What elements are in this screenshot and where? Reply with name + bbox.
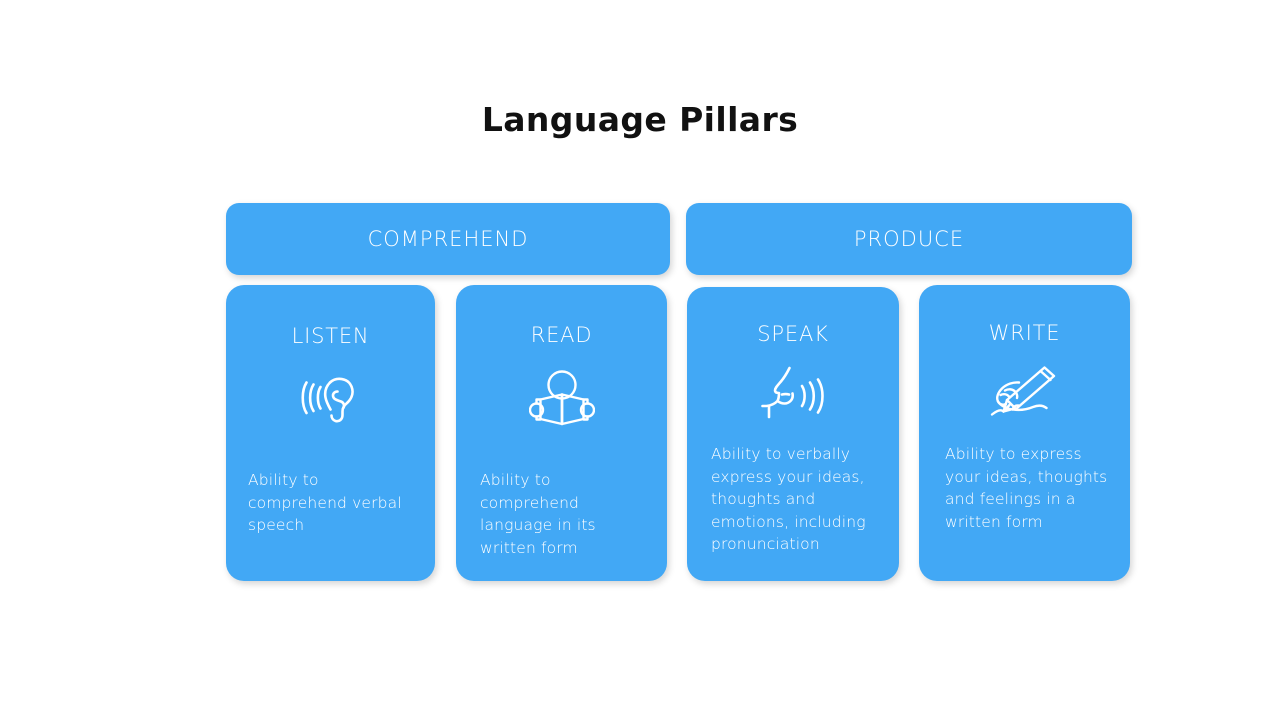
ear-listening-icon <box>226 367 435 429</box>
speaking-head-icon <box>687 365 899 425</box>
pillar-card-title: READ <box>456 323 667 347</box>
pillar-card-description: Ability to verbally express your ideas, … <box>711 443 887 556</box>
pillar-card-description: Ability to express your ideas, thoughts … <box>945 443 1118 533</box>
pillar-card-title: WRITE <box>919 321 1130 345</box>
category-banner-label: PRODUCE <box>854 227 964 251</box>
category-banner-comprehend[interactable]: COMPREHEND <box>226 203 670 275</box>
person-reading-book-icon <box>456 367 667 429</box>
pillar-card-description: Ability to comprehend language in its wr… <box>480 469 653 559</box>
pillar-card-title: LISTEN <box>226 324 435 348</box>
pillar-card-speak[interactable]: SPEAK Ability to verbally express your i… <box>687 287 899 581</box>
pillar-card-read[interactable]: READ Ability to comprehend l <box>456 285 667 581</box>
slide-canvas: Language Pillars COMPREHEND PRODUCE LIST… <box>0 0 1280 720</box>
hand-writing-pencil-icon <box>919 363 1130 423</box>
category-banner-label: COMPREHEND <box>368 227 529 251</box>
pillar-card-description: Ability to comprehend verbal speech <box>248 469 419 537</box>
category-banner-produce[interactable]: PRODUCE <box>686 203 1132 275</box>
page-title: Language Pillars <box>0 100 1280 140</box>
pillar-card-write[interactable]: WRITE Ability to ex <box>919 285 1130 581</box>
pillar-card-listen[interactable]: LISTEN Ability to comprehend verbal spee… <box>226 285 435 581</box>
pillar-card-title: SPEAK <box>687 322 899 346</box>
